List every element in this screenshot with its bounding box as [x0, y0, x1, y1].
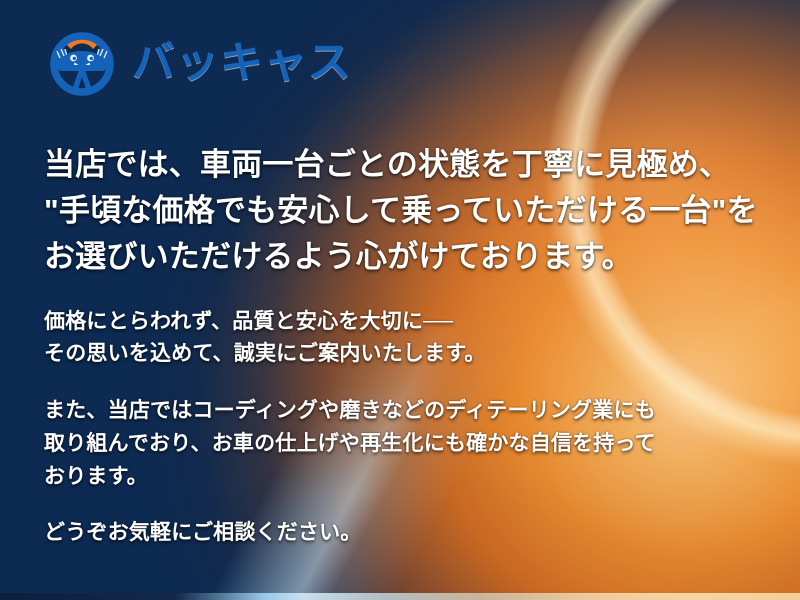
paragraph-line: 価格にとらわれず、品質と安心を大切に──: [44, 306, 760, 339]
body-text: 価格にとらわれず、品質と安心を大切に── その思いを込めて、誠実にご案内いたしま…: [44, 306, 760, 551]
headline: 当店では、車両一台ごとの状態を丁寧に見極め、 "手頃な価格でも安心して乗っていた…: [44, 142, 760, 280]
promo-banner: バッキャス 当店では、車両一台ごとの状態を丁寧に見極め、 "手頃な価格でも安心し…: [0, 0, 800, 600]
paragraph-line: どうぞお気軽にご相談ください。: [44, 517, 760, 550]
paragraph: どうぞお気軽にご相談ください。: [44, 517, 760, 550]
brand-name: バッキャス: [132, 42, 352, 85]
headline-line: "手頃な価格でも安心して乗っていただける一台"を: [44, 188, 760, 234]
paragraph-line: おります。: [44, 461, 760, 494]
paragraph-line: 取り組んでおり、お車の仕上げや再生化にも確かな自信を持って: [44, 428, 760, 461]
brand-logo: バッキャス: [44, 26, 760, 100]
paragraph: また、当店ではコーディングや磨きなどのディテーリング業にも 取り組んでおり、お車…: [44, 395, 760, 493]
headline-line: お選びいただけるよう心がけております。: [44, 234, 760, 280]
banner-content: バッキャス 当店では、車両一台ごとの状態を丁寧に見極め、 "手頃な価格でも安心し…: [0, 0, 800, 600]
steering-wheel-mascot-icon: [44, 30, 120, 96]
paragraph-line: その思いを込めて、誠実にご案内いたします。: [44, 338, 760, 371]
paragraph: 価格にとらわれず、品質と安心を大切に── その思いを込めて、誠実にご案内いたしま…: [44, 306, 760, 372]
paragraph-line: また、当店ではコーディングや磨きなどのディテーリング業にも: [44, 395, 760, 428]
headline-line: 当店では、車両一台ごとの状態を丁寧に見極め、: [44, 142, 760, 188]
